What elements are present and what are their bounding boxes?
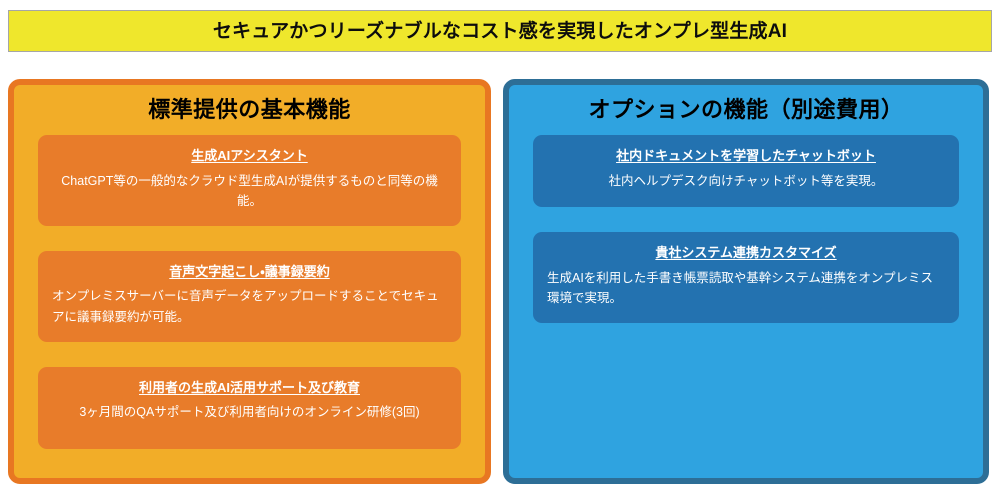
- feature-card[interactable]: 生成AIアシスタント ChatGPT等の一般的なクラウド型生成AIが提供するもの…: [38, 135, 461, 226]
- option-card-body: 社内ヘルプデスク向けチャットボット等を実現。: [547, 171, 945, 192]
- panel-optional-features: オプションの機能（別途費用） 社内ドキュメントを学習したチャットボット 社内ヘル…: [503, 79, 989, 484]
- feature-card-title: 利用者の生成AI活用サポート及び教育: [52, 380, 447, 396]
- feature-card[interactable]: 音声文字起こし・議事録要約 オンプレミスサーバーに音声データをアップロードするこ…: [38, 251, 461, 342]
- option-card[interactable]: 社内ドキュメントを学習したチャットボット 社内ヘルプデスク向けチャットボット等を…: [533, 135, 959, 207]
- option-card-body: 生成AIを利用した手書き帳票読取や基幹システム連携をオンプレミス環境で実現。: [547, 268, 945, 309]
- feature-card-body: オンプレミスサーバーに音声データをアップロードすることでセキュアに議事録要約が可…: [52, 286, 447, 327]
- title-banner-text: セキュアかつリーズナブルなコスト感を実現したオンプレ型生成AI: [213, 22, 787, 41]
- panel-optional-header: オプションの機能（別途費用）: [509, 85, 983, 121]
- panel-optional-card-list: 社内ドキュメントを学習したチャットボット 社内ヘルプデスク向けチャットボット等を…: [509, 135, 983, 323]
- feature-card-body: 3ヶ月間のQAサポート及び利用者向けのオンライン研修(3回): [52, 402, 447, 423]
- panels-container: 標準提供の基本機能 生成AIアシスタント ChatGPT等の一般的なクラウド型生…: [0, 79, 1000, 487]
- title-banner: セキュアかつリーズナブルなコスト感を実現したオンプレ型生成AI: [8, 10, 992, 52]
- option-card-title: 貴社システム連携カスタマイズ: [547, 245, 945, 261]
- feature-card-body: ChatGPT等の一般的なクラウド型生成AIが提供するものと同等の機能。: [52, 171, 447, 212]
- option-card-title: 社内ドキュメントを学習したチャットボット: [547, 148, 945, 164]
- feature-card-title: 生成AIアシスタント: [52, 148, 447, 164]
- feature-card-title: 音声文字起こし・議事録要約: [52, 264, 447, 280]
- panel-standard-features: 標準提供の基本機能 生成AIアシスタント ChatGPT等の一般的なクラウド型生…: [8, 79, 491, 484]
- option-card[interactable]: 貴社システム連携カスタマイズ 生成AIを利用した手書き帳票読取や基幹システム連携…: [533, 232, 959, 323]
- slide-root: セキュアかつリーズナブルなコスト感を実現したオンプレ型生成AI 標準提供の基本機…: [0, 0, 1000, 498]
- panel-standard-header: 標準提供の基本機能: [14, 85, 485, 121]
- panel-standard-card-list: 生成AIアシスタント ChatGPT等の一般的なクラウド型生成AIが提供するもの…: [14, 135, 485, 449]
- feature-card[interactable]: 利用者の生成AI活用サポート及び教育 3ヶ月間のQAサポート及び利用者向けのオン…: [38, 367, 461, 449]
